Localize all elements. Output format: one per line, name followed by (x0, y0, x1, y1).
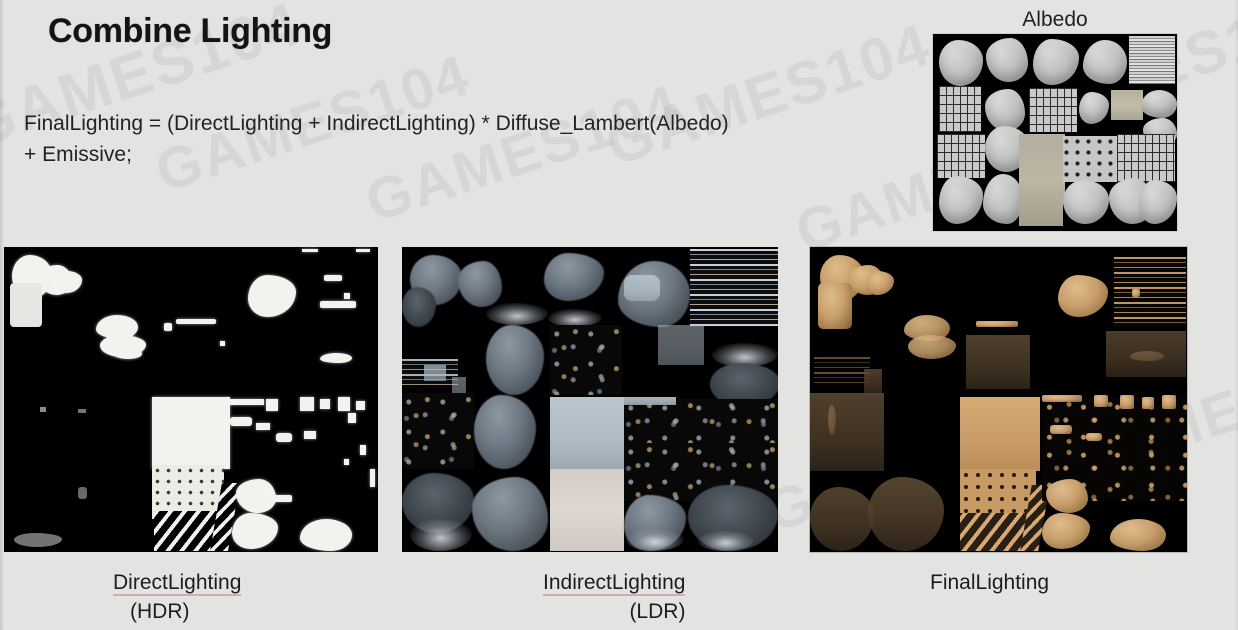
texture-tile (486, 325, 544, 395)
texture-tile (1162, 395, 1176, 409)
texture-tile (424, 365, 446, 381)
texture-tile (1079, 92, 1109, 124)
texture-tile (1042, 395, 1082, 402)
texture-tile (1110, 519, 1166, 551)
final-lighting-image (810, 247, 1187, 552)
texture-tile (232, 513, 278, 549)
texture-tile (550, 397, 624, 471)
texture-tile (1120, 395, 1134, 409)
texture-tile (370, 469, 375, 487)
texture-tile (344, 293, 350, 299)
texture-tile (976, 321, 1018, 327)
texture-tile (1114, 257, 1186, 327)
texture-tile (960, 397, 1040, 471)
texture-tile (1086, 433, 1102, 441)
texture-tile (176, 319, 216, 324)
texture-tile (983, 174, 1023, 224)
texture-tile (1142, 397, 1154, 409)
texture-tile (985, 89, 1025, 131)
texture-tile (458, 261, 502, 307)
texture-tile (1111, 90, 1143, 120)
texture-tile (810, 487, 874, 551)
texture-tile (810, 393, 884, 471)
texture-tile (14, 533, 62, 547)
texture-tile (624, 275, 660, 301)
direct-lighting-label: DirectLighting (113, 571, 241, 596)
texture-tile (360, 445, 366, 455)
texture-tile (1029, 88, 1077, 132)
albedo-image (933, 34, 1177, 231)
texture-tile (304, 431, 316, 439)
direct-lighting-caption: DirectLighting (HDR) (113, 568, 241, 626)
texture-tile (939, 176, 983, 224)
final-lighting-label: FinalLighting (930, 571, 1049, 594)
texture-tile (230, 417, 252, 426)
texture-tile (986, 38, 1028, 82)
albedo-caption: Albedo (933, 6, 1177, 34)
texture-tile (1050, 425, 1072, 434)
texture-tile (966, 335, 1030, 389)
texture-tile (1061, 136, 1117, 182)
texture-tile (40, 407, 46, 412)
texture-tile (152, 397, 230, 469)
texture-tile (164, 323, 172, 331)
texture-tile (658, 325, 704, 365)
texture-tile (320, 353, 352, 363)
texture-tile (1083, 40, 1127, 84)
texture-tile (266, 495, 292, 502)
texture-tile (550, 469, 624, 551)
texture-tile (690, 249, 778, 327)
texture-tile (78, 487, 87, 499)
texture-tile (868, 477, 944, 551)
texture-tile (960, 469, 1036, 519)
texture-tile (300, 397, 314, 411)
texture-tile (866, 271, 894, 295)
texture-tile (266, 399, 278, 411)
direct-lighting-image (4, 247, 378, 552)
texture-tile (256, 423, 270, 430)
texture-tile (56, 271, 82, 293)
texture-tile (544, 253, 604, 301)
texture-tile (78, 409, 86, 413)
texture-tile (348, 413, 356, 423)
texture-tile (1019, 134, 1063, 226)
texture-tile (320, 301, 356, 308)
texture-tile (356, 249, 370, 252)
final-lighting-caption: FinalLighting (930, 568, 1049, 597)
texture-tile (626, 529, 684, 551)
texture-tile (402, 393, 474, 469)
texture-tile (1058, 275, 1108, 317)
texture-tile (302, 249, 318, 252)
texture-tile (226, 399, 264, 405)
texture-tile (1106, 331, 1186, 377)
texture-tile (472, 477, 548, 551)
texture-tile (1042, 513, 1090, 549)
texture-tile (344, 459, 349, 465)
texture-tile (324, 275, 342, 281)
texture-tile (1117, 134, 1175, 178)
indirect-lighting-label: IndirectLighting (543, 571, 685, 596)
texture-tile (248, 275, 296, 317)
texture-tile (320, 399, 330, 409)
texture-tile (486, 303, 548, 325)
texture-tile (10, 283, 42, 327)
texture-tile (818, 283, 852, 329)
albedo-block: Albedo (933, 6, 1177, 231)
texture-tile (937, 134, 985, 178)
lighting-formula: FinalLighting = (DirectLighting + Indire… (24, 108, 729, 170)
page-title: Combine Lighting (48, 12, 332, 51)
slide: GAMES104GAMES104GAMES104GAMES104GAMES104… (0, 0, 1238, 630)
texture-tile (1046, 479, 1088, 513)
texture-tile (1132, 289, 1140, 297)
indirect-lighting-image (402, 247, 778, 552)
texture-tile (300, 519, 352, 551)
texture-tile (402, 287, 436, 327)
texture-tile (1129, 36, 1175, 84)
texture-tile (1063, 180, 1109, 224)
texture-tile (939, 40, 983, 86)
texture-tile (338, 397, 350, 411)
texture-tile (474, 395, 536, 469)
texture-tile (220, 341, 225, 346)
texture-tile (356, 401, 365, 410)
texture-tile (1139, 180, 1177, 224)
texture-tile (864, 369, 882, 395)
texture-tile (624, 397, 676, 405)
texture-tile (1094, 395, 1108, 407)
texture-tile (624, 399, 778, 445)
direct-lighting-sublabel: (HDR) (130, 597, 241, 626)
indirect-lighting-sublabel: (LDR) (543, 597, 685, 626)
texture-tile (410, 519, 472, 551)
texture-tile (908, 335, 956, 359)
indirect-lighting-caption: IndirectLighting (LDR) (543, 568, 685, 626)
texture-tile (939, 86, 981, 132)
texture-tile (112, 347, 142, 359)
texture-tile (550, 325, 622, 395)
texture-tile (1141, 90, 1177, 118)
texture-tile (814, 357, 870, 383)
texture-tile (1033, 39, 1079, 85)
texture-tile (276, 433, 292, 442)
